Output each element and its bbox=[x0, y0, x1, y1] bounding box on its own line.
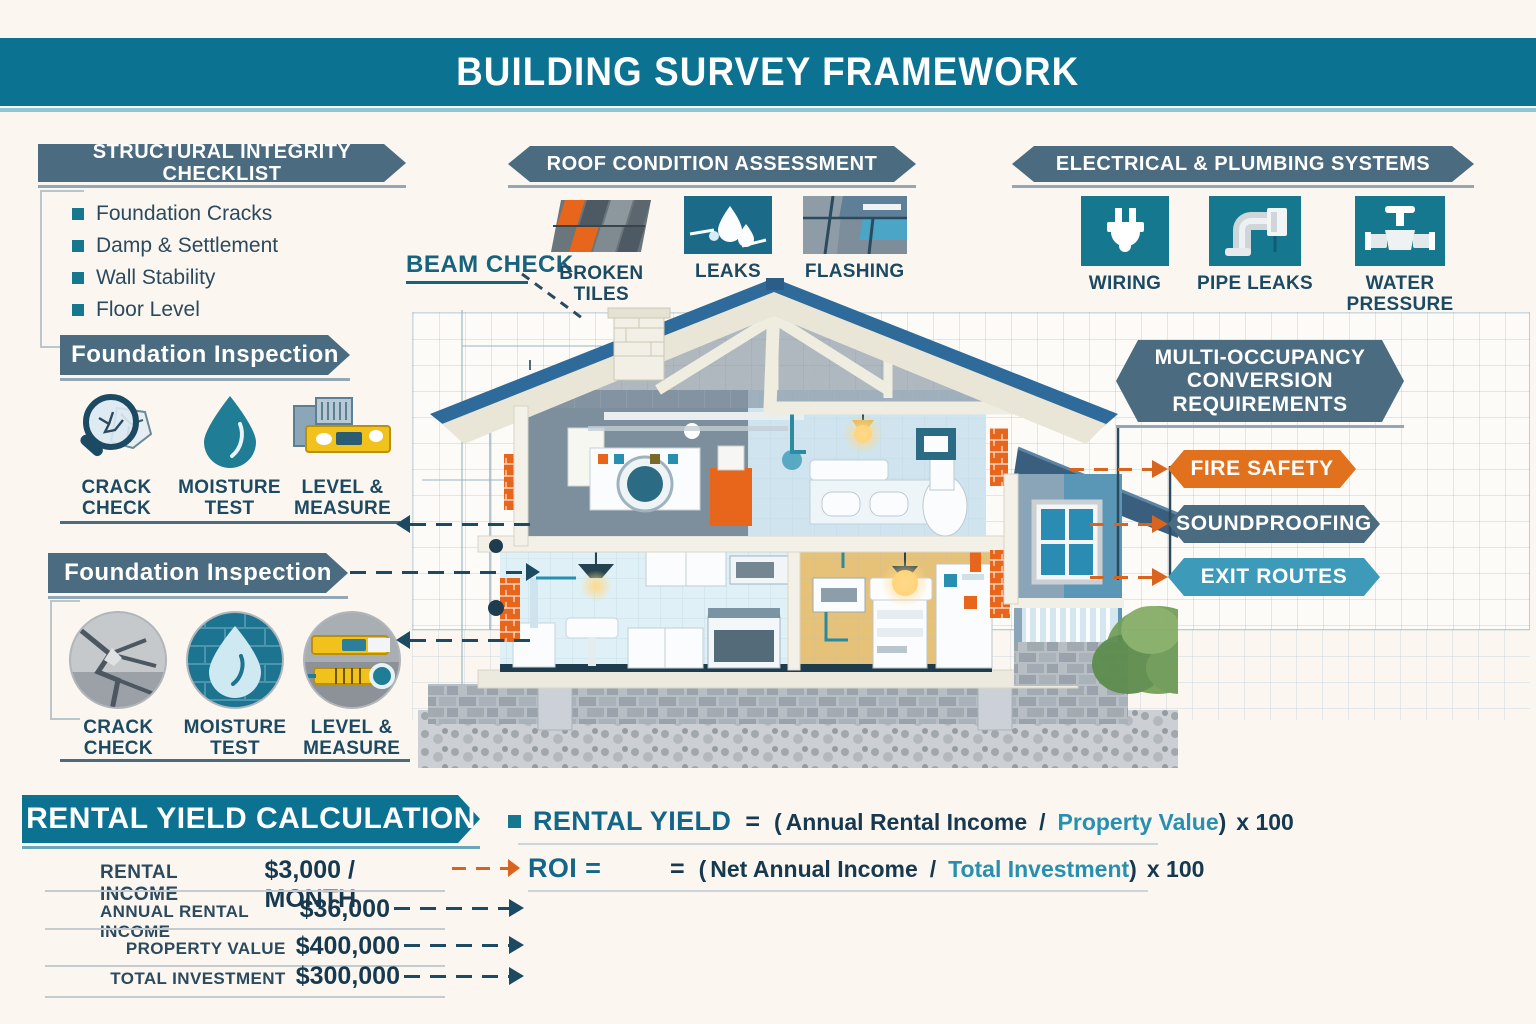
icon-caption: WIRING bbox=[1089, 274, 1162, 295]
magnifier-crack-icon bbox=[71, 390, 163, 470]
checklist-label: Floor Level bbox=[96, 298, 200, 322]
systems-ribbon-rule bbox=[1012, 185, 1474, 188]
formula-slash: / bbox=[1039, 809, 1045, 836]
fin-rule-2 bbox=[45, 928, 445, 930]
bullet-square-icon bbox=[72, 240, 84, 252]
total-investment-value: $300,000 bbox=[296, 962, 400, 991]
icon-flashing: FLASHING bbox=[791, 196, 918, 305]
cracked-concrete-icon bbox=[68, 610, 168, 710]
property-value-value: $400,000 bbox=[296, 932, 400, 961]
multi-occupancy-ribbon: MULTI-OCCUPANCY CONVERSION REQUIREMENTS bbox=[1116, 340, 1404, 422]
checklist-label: Wall Stability bbox=[96, 266, 215, 290]
icon-caption: CRACK CHECK bbox=[60, 478, 173, 519]
formula-rule-1 bbox=[518, 843, 1158, 845]
icon-level-measure-photo: LEVEL & MEASURE bbox=[293, 610, 410, 759]
rental-yield-ribbon: RENTAL YIELD CALCULATION bbox=[22, 795, 480, 843]
formula-name: RENTAL YIELD bbox=[533, 806, 731, 837]
pipe-elbow-icon bbox=[1209, 196, 1301, 266]
moisture-drop-brick-icon bbox=[185, 610, 285, 710]
annual-rental-income-value: $36,000 bbox=[300, 895, 390, 924]
roof-condition-ribbon: ROOF CONDITION ASSESSMENT bbox=[508, 146, 916, 182]
icon-caption: MOISTURE TEST bbox=[173, 478, 286, 519]
formula-multiplier: x 100 bbox=[1147, 856, 1205, 883]
bullet-square-icon bbox=[72, 304, 84, 316]
page-title: BUILDING SURVEY FRAMEWORK bbox=[456, 50, 1079, 95]
electrical-plumbing-ribbon: ELECTRICAL & PLUMBING SYSTEMS bbox=[1012, 146, 1474, 182]
formula-close-paren: ) bbox=[1129, 856, 1137, 883]
fin-rule-1 bbox=[45, 890, 445, 892]
plug-icon bbox=[1081, 196, 1169, 266]
icon-crack-check-photo: CRACK CHECK bbox=[60, 610, 177, 759]
icon-broken-tiles: BROKEN TILES bbox=[538, 196, 665, 305]
water-drop-icon bbox=[194, 390, 266, 470]
valve-icon bbox=[1355, 196, 1445, 266]
list-item: Damp & Settlement bbox=[72, 230, 278, 262]
formula-roi: ROI = = ( Net Annual Income / Total Inve… bbox=[528, 853, 1204, 884]
list-item: Foundation Cracks bbox=[72, 198, 278, 230]
foundation-bottom-rule bbox=[48, 596, 348, 599]
formula-rental-yield: RENTAL YIELD = ( Annual Rental Income / … bbox=[508, 806, 1294, 837]
formula-open-paren: ( bbox=[774, 809, 782, 836]
icon-caption: LEVEL & MEASURE bbox=[286, 478, 399, 519]
roof-leak-icon bbox=[684, 196, 772, 254]
formula-denominator: Total Investment bbox=[948, 856, 1129, 883]
icon-caption: LEAKS bbox=[695, 262, 761, 283]
fin-rule-4 bbox=[45, 996, 445, 998]
icon-pipe-leaks: PIPE LEAKS bbox=[1190, 196, 1320, 315]
structural-integrity-ribbon: STRUCTURAL INTEGRITY CHECKLIST bbox=[38, 144, 406, 182]
formula-equals: = bbox=[670, 855, 685, 884]
spirit-level-icon bbox=[290, 390, 395, 470]
structural-checklist: Foundation Cracks Damp & Settlement Wall… bbox=[72, 198, 278, 326]
formula-numerator: Net Annual Income bbox=[710, 856, 917, 883]
page-title-banner: BUILDING SURVEY FRAMEWORK bbox=[0, 38, 1536, 106]
structural-ribbon-rule bbox=[38, 185, 406, 188]
icon-caption: FLASHING bbox=[805, 262, 905, 283]
foundation-top-bottom-rule bbox=[60, 521, 400, 524]
formula-close-paren: ) bbox=[1219, 809, 1227, 836]
icon-caption: LEVEL & MEASURE bbox=[293, 718, 410, 759]
chip-fire-safety[interactable]: FIRE SAFETY bbox=[1168, 450, 1356, 488]
foundation-inspection-ribbon-bottom: Foundation Inspection bbox=[48, 553, 348, 593]
icon-moisture-test: MOISTURE TEST bbox=[173, 390, 286, 519]
flashing-icon bbox=[803, 196, 907, 254]
list-item: Wall Stability bbox=[72, 262, 278, 294]
formula-denominator: Property Value bbox=[1058, 809, 1219, 836]
formula-slash: / bbox=[930, 856, 936, 883]
icon-moisture-test-photo: MOISTURE TEST bbox=[177, 610, 294, 759]
formula-numerator: Annual Rental Income bbox=[786, 809, 1028, 836]
icon-caption: MOISTURE TEST bbox=[177, 718, 294, 759]
level-tools-icon bbox=[302, 610, 402, 710]
icon-wiring: WIRING bbox=[1060, 196, 1190, 315]
foundation-bottom-icons: CRACK CHECK MOISTURE TEST bbox=[60, 610, 410, 759]
formula-name: ROI = bbox=[528, 853, 656, 884]
icon-caption: WATER PRESSURE bbox=[1320, 274, 1480, 315]
icon-caption: CRACK CHECK bbox=[60, 718, 177, 759]
icon-caption: PIPE LEAKS bbox=[1197, 274, 1313, 295]
infographic-canvas: BUILDING SURVEY FRAMEWORK bbox=[0, 0, 1536, 1024]
roof-ribbon-rule bbox=[508, 185, 916, 188]
rental-ribbon-rule bbox=[22, 846, 480, 849]
list-item: Floor Level bbox=[72, 294, 278, 326]
broken-tiles-icon bbox=[547, 196, 655, 256]
chip-exit-routes[interactable]: EXIT ROUTES bbox=[1168, 558, 1380, 596]
systems-icons: WIRING PIPE LEAKS bbox=[1060, 196, 1480, 315]
total-investment-label: TOTAL INVESTMENT bbox=[110, 969, 285, 989]
multi-occupancy-connector bbox=[1112, 428, 1172, 588]
icon-crack-check: CRACK CHECK bbox=[60, 390, 173, 519]
formula-equals: = bbox=[745, 808, 760, 837]
title-underline bbox=[0, 108, 1536, 112]
foundation-inspection-ribbon-top: Foundation Inspection bbox=[60, 335, 350, 375]
formula-open-paren: ( bbox=[699, 856, 707, 883]
roof-icons: BROKEN TILES LEAKS FLASHING bbox=[538, 196, 918, 305]
chip-soundproofing[interactable]: SOUNDPROOFING bbox=[1168, 505, 1380, 543]
icon-level-measure: LEVEL & MEASURE bbox=[286, 390, 399, 519]
bullet-square-icon bbox=[508, 815, 521, 828]
bullet-square-icon bbox=[72, 272, 84, 284]
icon-water-pressure: WATER PRESSURE bbox=[1320, 196, 1480, 315]
icon-leaks: LEAKS bbox=[665, 196, 792, 305]
property-value-label: PROPERTY VALUE bbox=[126, 939, 286, 959]
checklist-label: Foundation Cracks bbox=[96, 202, 272, 226]
checklist-label: Damp & Settlement bbox=[96, 234, 278, 258]
bullet-square-icon bbox=[72, 208, 84, 220]
formula-multiplier: x 100 bbox=[1236, 809, 1294, 836]
icon-caption: BROKEN TILES bbox=[538, 264, 665, 305]
foundation-top-rule bbox=[60, 378, 350, 381]
foundation-top-icons: CRACK CHECK MOISTURE TEST LEVEL & MEASUR… bbox=[60, 390, 400, 519]
foundation-bottom-end-rule bbox=[60, 759, 410, 762]
formula-rule-2 bbox=[528, 890, 1148, 892]
